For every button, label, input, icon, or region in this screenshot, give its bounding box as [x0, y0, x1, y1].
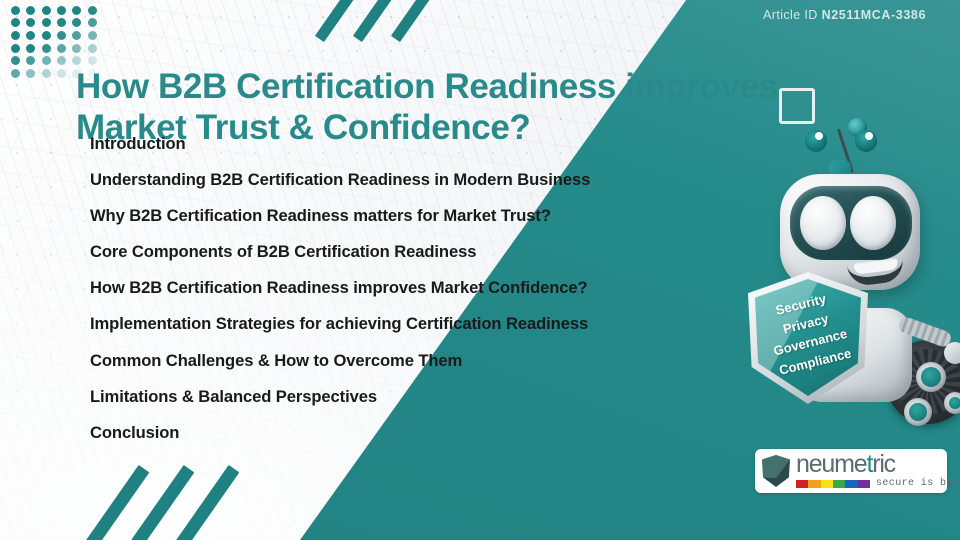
logo-rainbow-bar — [796, 480, 870, 488]
list-item[interactable]: How B2B Certification Readiness improves… — [90, 280, 740, 297]
robot-eye-left — [800, 196, 846, 250]
robot-eye-glint-left — [815, 132, 823, 140]
list-item[interactable]: Why B2B Certification Readiness matters … — [90, 208, 740, 225]
logo-shield-icon — [762, 455, 790, 487]
list-item[interactable]: Introduction — [90, 136, 740, 153]
list-item[interactable]: Limitations & Balanced Perspectives — [90, 389, 740, 406]
list-item[interactable]: Conclusion — [90, 425, 740, 442]
article-id-label: Article ID — [763, 8, 818, 22]
presentation-slide: Article ID N2511MCA-3386 How B2B Certifi… — [0, 0, 960, 540]
logo-wordmark: neumetric — [796, 453, 960, 477]
page-title-line-1: How B2B Certification Readiness improves — [76, 67, 778, 106]
logo-tagline: secure is better — [876, 478, 960, 489]
decorative-stripes-top — [330, 0, 460, 38]
list-item[interactable]: Common Challenges & How to Overcome Them — [90, 353, 740, 370]
robot-wheel-hub — [916, 362, 946, 392]
logo-bottom-row: secure is better — [796, 478, 960, 489]
robot-wheel-hub — [944, 392, 960, 414]
article-id-value: N2511MCA-3386 — [822, 8, 926, 22]
robot-hand — [944, 342, 960, 364]
robot-eye-glint-right — [865, 132, 873, 140]
list-item[interactable]: Implementation Strategies for achieving … — [90, 316, 740, 333]
robot-eye-right — [850, 196, 896, 250]
logo-word-part3: ric — [872, 450, 895, 478]
neumetric-logo[interactable]: neumetric secure is better — [755, 449, 947, 493]
robot-wheel-hub — [904, 398, 932, 426]
security-shield-graphic: Security Privacy Governance Compliance — [748, 272, 868, 404]
table-of-contents: Introduction Understanding B2B Certifica… — [90, 136, 740, 461]
logo-word-part1: neume — [796, 450, 866, 478]
article-id: Article ID N2511MCA-3386 — [763, 8, 926, 22]
list-item[interactable]: Understanding B2B Certification Readines… — [90, 172, 740, 189]
list-item[interactable]: Core Components of B2B Certification Rea… — [90, 244, 740, 261]
logo-text-block: neumetric secure is better — [796, 453, 960, 490]
decorative-stripes-bottom — [110, 468, 250, 540]
